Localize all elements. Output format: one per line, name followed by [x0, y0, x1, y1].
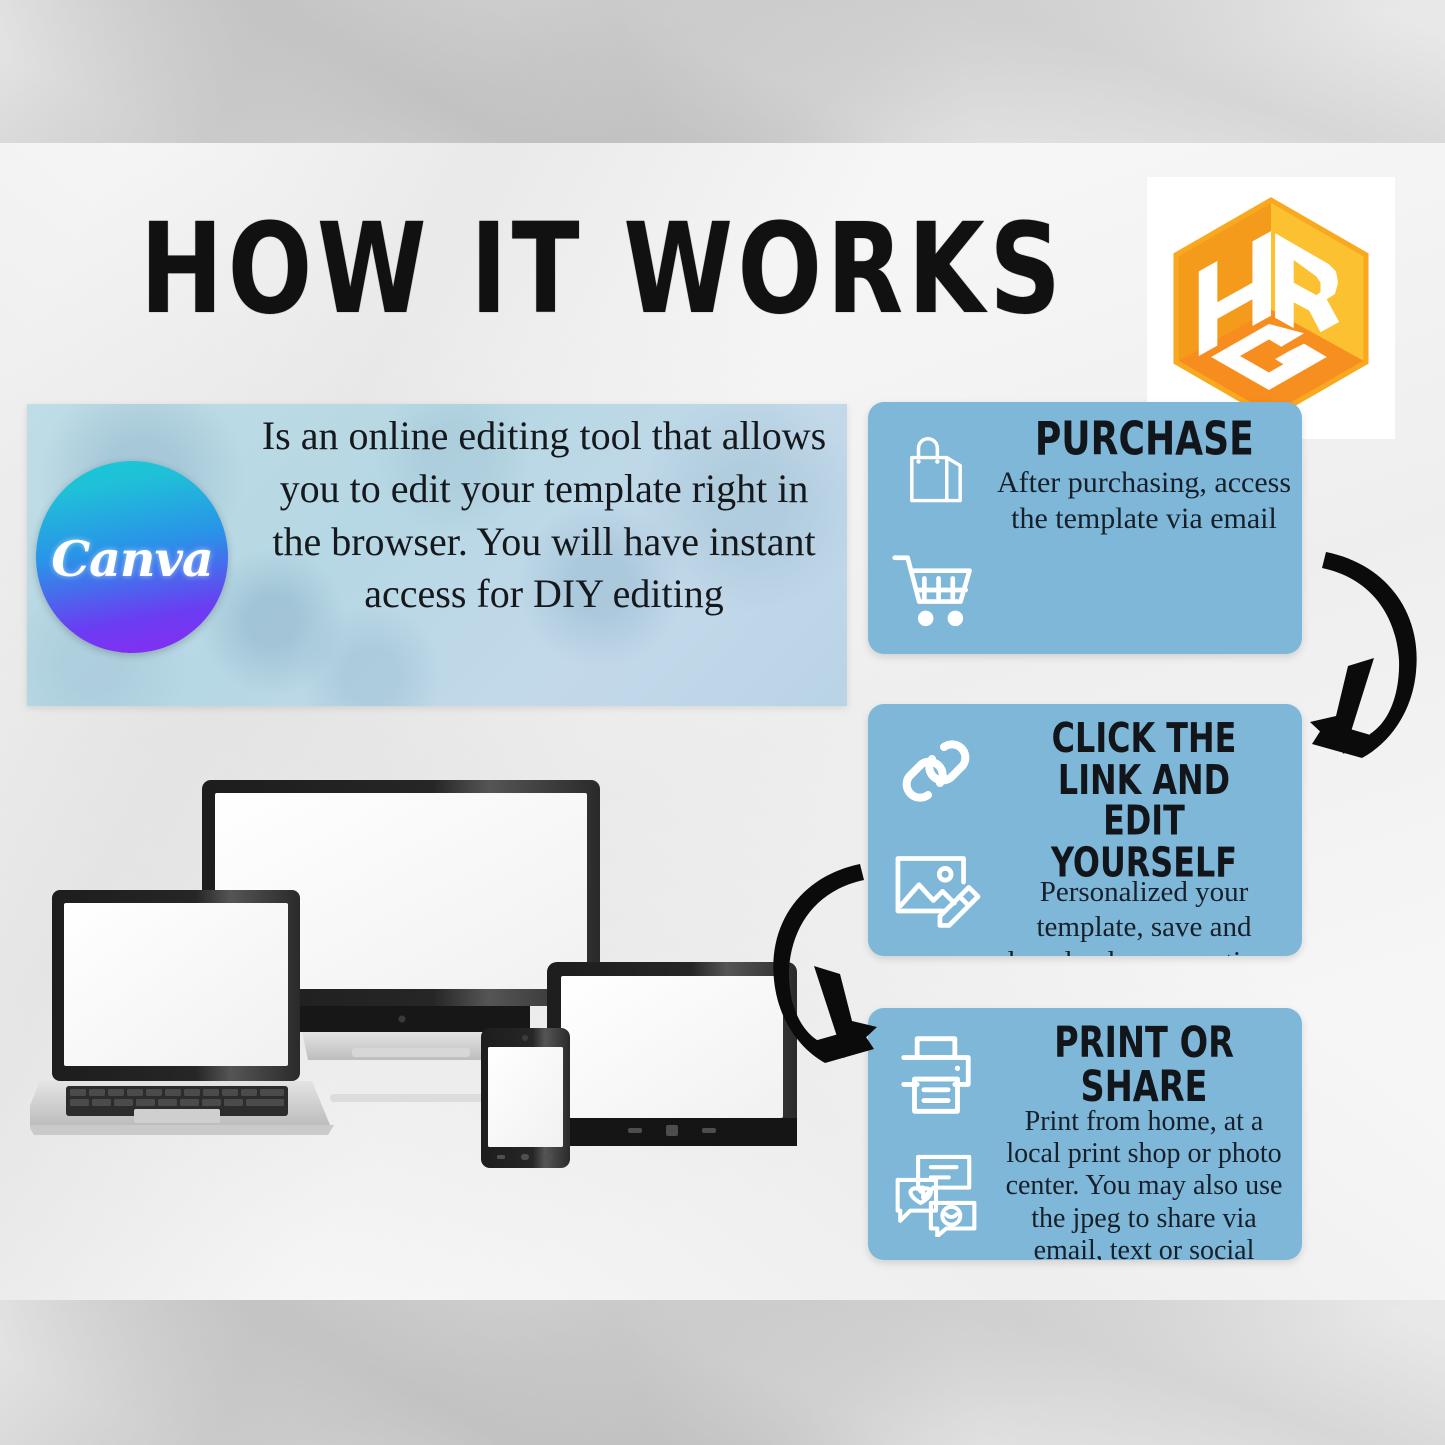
canva-logo-circle: Canva — [36, 461, 228, 653]
edit-heading: CLICK THE LINK AND EDIT YOURSELF — [1015, 718, 1273, 884]
hrg-logo — [1147, 177, 1395, 439]
arrow-edit-to-print — [752, 852, 887, 1067]
purchase-heading: PURCHASE — [1034, 416, 1253, 463]
edit-description: Personalized your template, save and dow… — [994, 875, 1294, 956]
arrow-purchase-to-edit — [1300, 538, 1440, 768]
step-card-print-share: PRINT OR SHARE Print from home, at a loc… — [868, 1008, 1302, 1260]
shopping-cart-icon — [890, 550, 982, 630]
canva-description: Is an online editing tool that allows yo… — [255, 410, 833, 621]
paper-texture-band-bottom — [0, 1300, 1445, 1445]
smartphone-mockup — [481, 1028, 570, 1168]
link-chain-icon — [893, 731, 979, 811]
purchase-content: PURCHASE After purchasing, access the te… — [994, 412, 1294, 646]
edit-content: CLICK THE LINK AND EDIT YOURSELF Persona… — [994, 714, 1294, 948]
laptop-mockup — [30, 890, 334, 1135]
hrg-cube-icon — [1166, 196, 1376, 421]
step-card-edit: CLICK THE LINK AND EDIT YOURSELF Persona… — [868, 704, 1302, 956]
curved-arrow-down-left-icon — [1300, 538, 1440, 768]
edit-icons — [880, 712, 992, 950]
image-edit-icon — [890, 848, 982, 932]
step-card-purchase: PURCHASE After purchasing, access the te… — [868, 402, 1302, 654]
canva-wordmark: Canva — [51, 530, 213, 588]
print-share-icons — [880, 1016, 992, 1254]
curved-arrow-down-right-icon — [752, 852, 887, 1067]
printer-icon — [893, 1033, 979, 1117]
devices-illustration — [30, 770, 810, 1170]
print-share-heading: PRINT OR SHARE — [1015, 1022, 1273, 1109]
shopping-bag-icon — [893, 428, 979, 514]
purchase-icons — [880, 410, 992, 648]
paper-texture-band-top — [0, 0, 1445, 143]
device-mockups — [30, 770, 810, 1170]
how-it-works-poster: HOW IT WORKS — [0, 0, 1445, 1445]
page-title: HOW IT WORKS — [140, 195, 839, 346]
canva-info-panel: Canva Is an online editing tool that all… — [27, 404, 847, 706]
print-share-content: PRINT OR SHARE Print from home, at a loc… — [994, 1018, 1294, 1252]
purchase-description: After purchasing, access the template vi… — [994, 465, 1294, 537]
print-share-description: Print from home, at a local print shop o… — [994, 1106, 1294, 1260]
chat-bubbles-icon — [890, 1151, 982, 1237]
